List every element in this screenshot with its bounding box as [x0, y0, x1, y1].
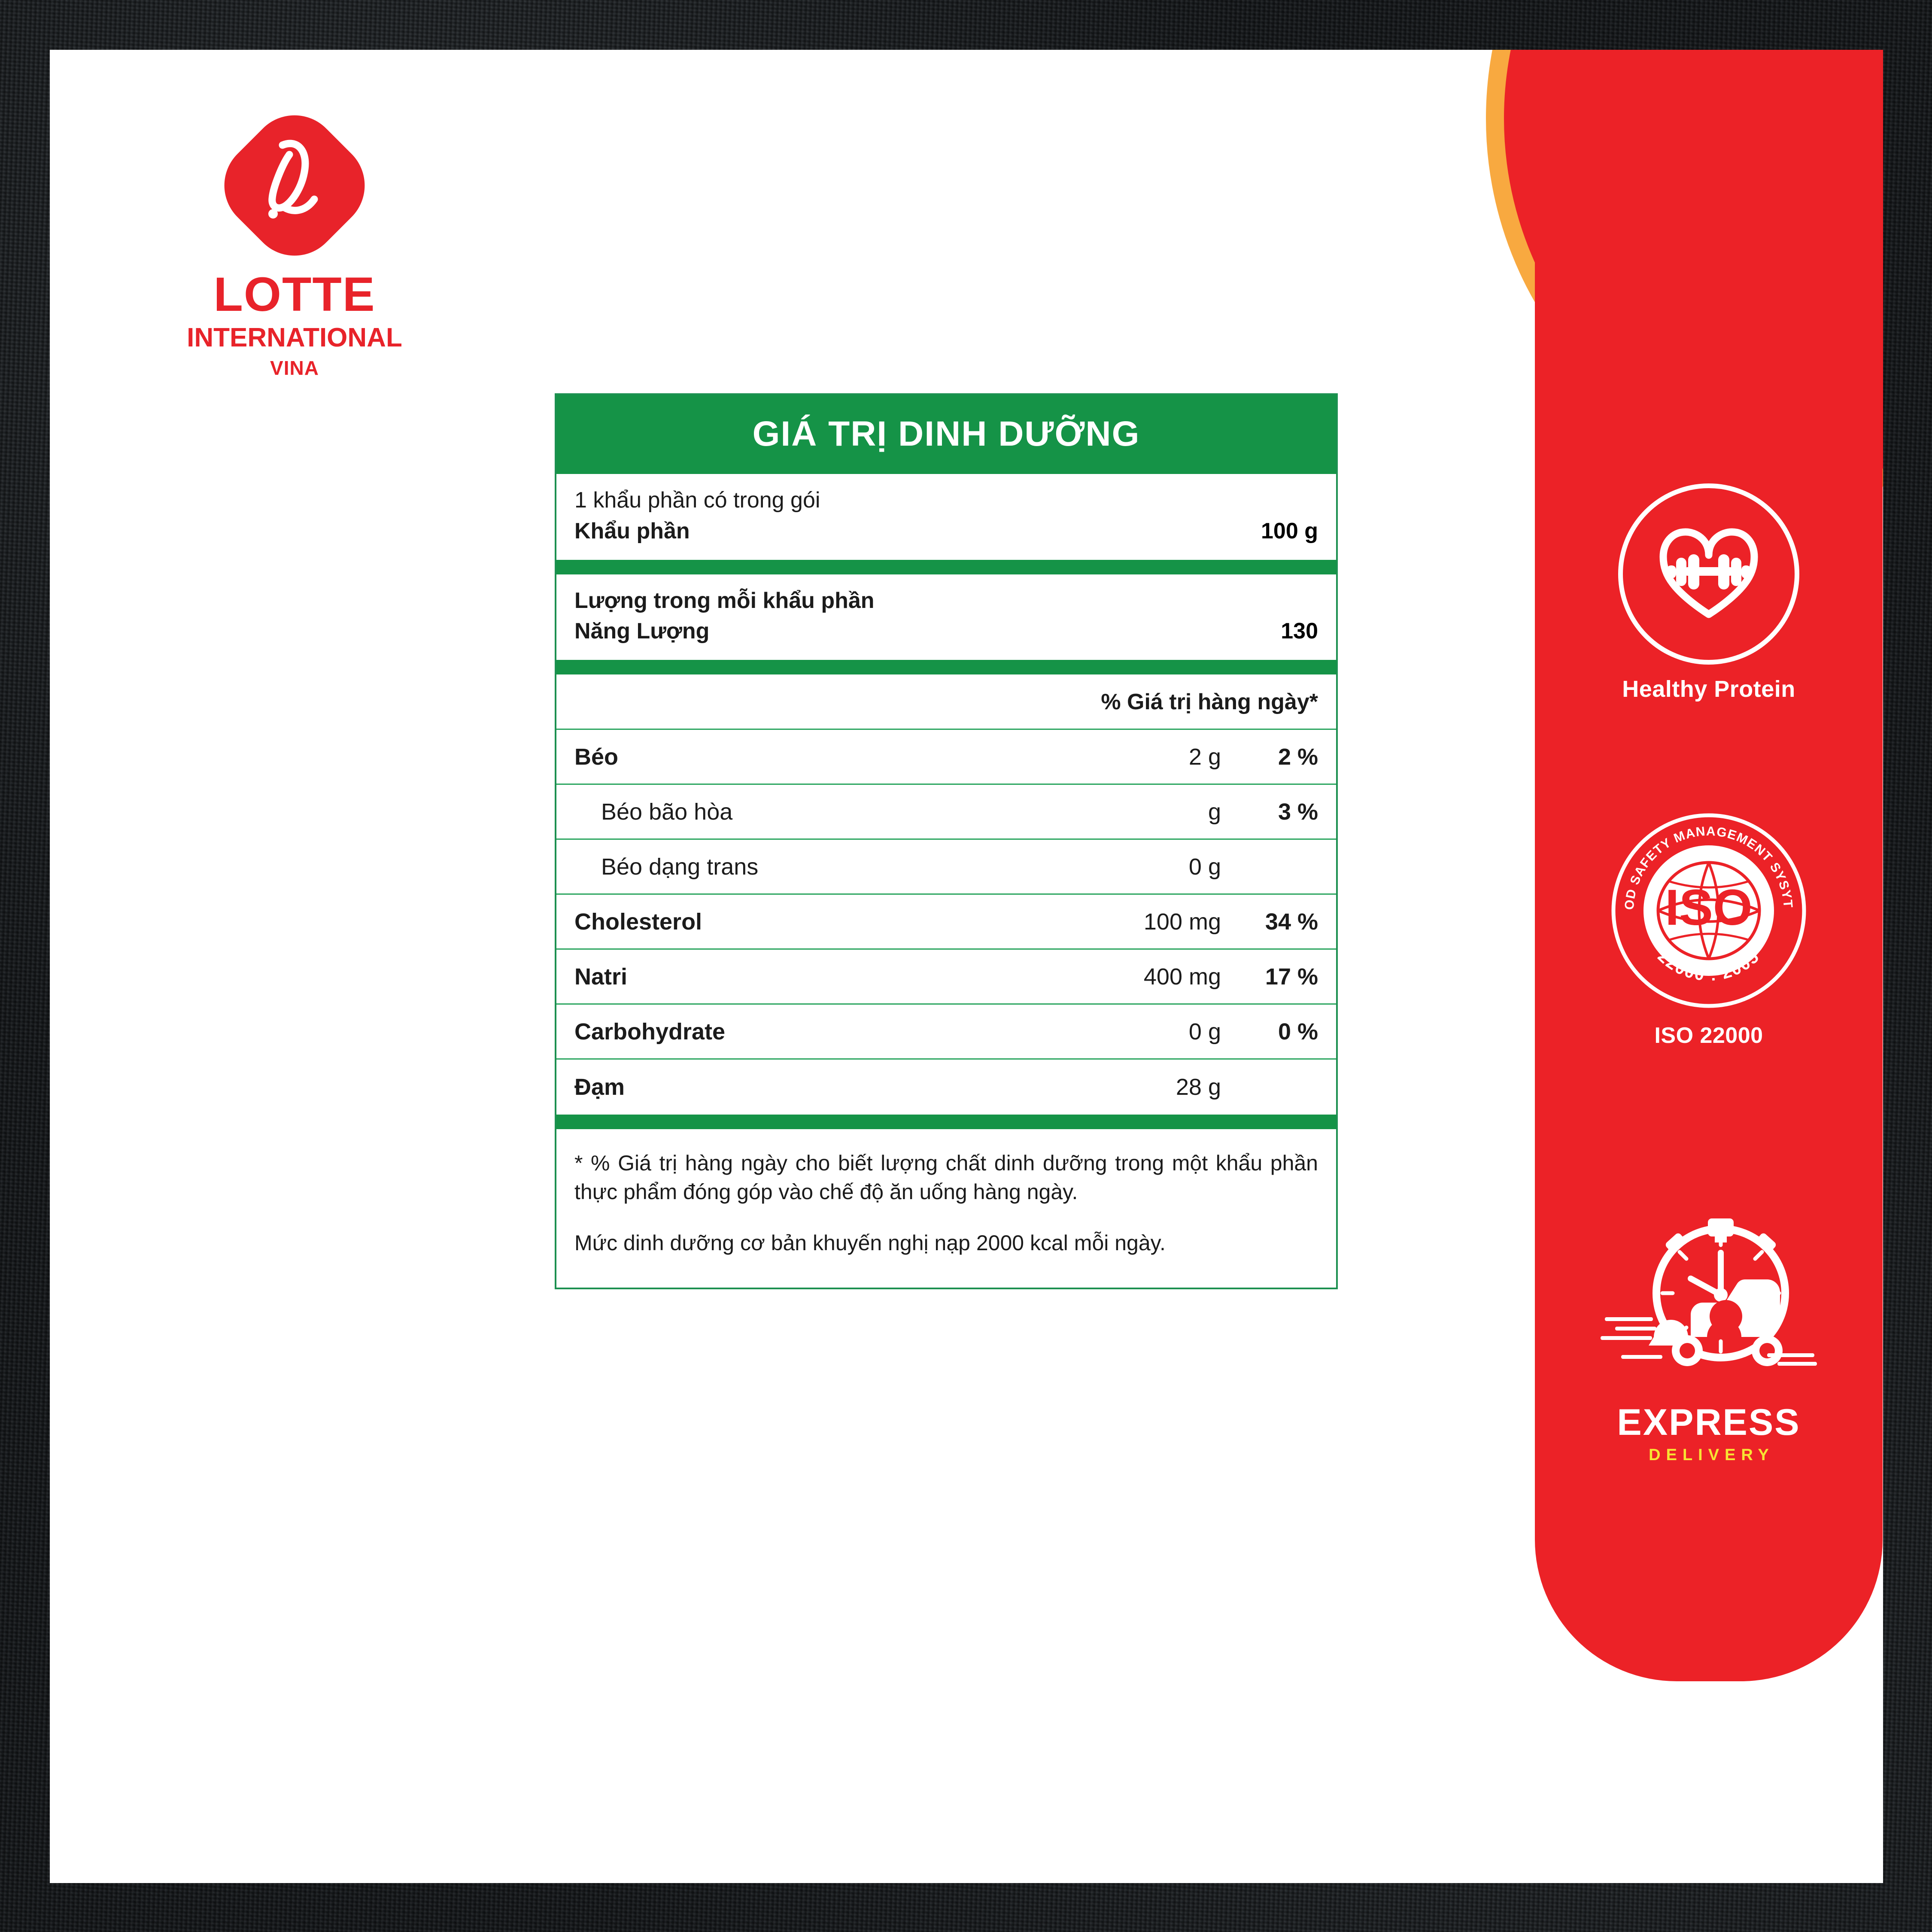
promo-banner: Healthy Protein — [1535, 50, 1883, 1681]
badge-iso: ISO FOOD SAFETY MANAGEMENT SYSYTEM 22000… — [1535, 810, 1883, 1048]
footnote-calorie-basis: Mức dinh dưỡng cơ bản khuyến nghị nạp 20… — [574, 1229, 1318, 1258]
badge-label-iso: ISO 22000 — [1535, 1023, 1883, 1048]
divider-band-1 — [556, 560, 1336, 574]
nutrient-name: Béo bão hòa — [574, 799, 1041, 825]
nutrient-amount: 0 g — [1041, 1018, 1232, 1045]
iso-globe-seal-icon: ISO FOOD SAFETY MANAGEMENT SYSYTEM 22000… — [1608, 810, 1810, 1012]
brand-logo: LOTTE INTERNATIONAL VINA — [131, 123, 458, 378]
nutrient-amount: 28 g — [1041, 1074, 1232, 1100]
nutrient-amount: g — [1041, 799, 1232, 825]
brand-name: LOTTE — [131, 270, 458, 319]
white-card: Healthy Protein — [50, 50, 1883, 1883]
daily-value-header: % Giá trị hàng ngày* — [556, 674, 1336, 730]
nutrient-amount: 100 mg — [1041, 908, 1232, 935]
express-title: EXPRESS — [1535, 1404, 1883, 1441]
table-row: Cholesterol 100 mg 34 % — [556, 895, 1336, 950]
iso-center-text: ISO — [1665, 879, 1752, 936]
divider-band-2 — [556, 660, 1336, 674]
nutrient-percent: 2 % — [1232, 744, 1318, 770]
nutrient-name: Đạm — [574, 1074, 1041, 1100]
nutrient-amount: 0 g — [1041, 854, 1232, 880]
serving-size-label: Khẩu phần — [574, 516, 690, 547]
table-row: Carbohydrate 0 g 0 % — [556, 1005, 1336, 1060]
nutrient-rows: Béo 2 g 2 % Béo bão hòa g 3 % Béo dạng t… — [556, 730, 1336, 1115]
nutrient-name: Natri — [574, 963, 1041, 990]
servings-per-container: 1 khẩu phần có trong gói — [574, 485, 1318, 516]
nutrient-percent: 17 % — [1232, 963, 1318, 990]
nutrition-title: GIÁ TRỊ DINH DƯỠNG — [556, 395, 1336, 474]
nutrient-name: Carbohydrate — [574, 1018, 1041, 1045]
lotte-diamond-l-logo — [206, 97, 383, 274]
table-row: Béo dạng trans 0 g — [556, 840, 1336, 895]
energy-label: Năng Lượng — [574, 616, 709, 647]
amount-per-serving-label: Lượng trong mỗi khẩu phần — [574, 586, 1318, 617]
nutrient-percent: 34 % — [1232, 908, 1318, 935]
badge-healthy-protein: Healthy Protein — [1535, 483, 1883, 702]
footnotes: * % Giá trị hàng ngày cho biết lượng chấ… — [556, 1129, 1336, 1288]
serving-block: 1 khẩu phần có trong gói Khẩu phần 100 g — [556, 474, 1336, 560]
express-subtitle: DELIVERY — [1535, 1446, 1883, 1464]
serving-size-value: 100 g — [1261, 518, 1318, 544]
brand-region: VINA — [131, 358, 458, 378]
energy-block: Lượng trong mỗi khẩu phần Năng Lượng 130 — [556, 574, 1336, 660]
badge-express-delivery: EXPRESS DELIVERY — [1535, 1209, 1883, 1464]
table-row: Đạm 28 g — [556, 1060, 1336, 1115]
footnote-daily-value: * % Giá trị hàng ngày cho biết lượng chấ… — [574, 1149, 1318, 1206]
nutrient-name: Béo — [574, 744, 1041, 770]
nutrient-amount: 400 mg — [1041, 963, 1232, 990]
nutrient-name: Béo dạng trans — [574, 854, 1041, 880]
heart-dumbbell-icon — [1618, 483, 1799, 665]
nutrient-percent: 3 % — [1232, 799, 1318, 825]
nutrition-facts-panel: GIÁ TRỊ DINH DƯỠNG 1 khẩu phần có trong … — [555, 393, 1338, 1289]
brand-subtitle: INTERNATIONAL — [131, 324, 458, 352]
nutrient-name: Cholesterol — [574, 908, 1041, 935]
badge-label-protein: Healthy Protein — [1535, 676, 1883, 702]
table-row: Béo 2 g 2 % — [556, 730, 1336, 785]
table-row: Natri 400 mg 17 % — [556, 950, 1336, 1005]
divider-band-3 — [556, 1115, 1336, 1129]
nutrient-percent: 0 % — [1232, 1018, 1318, 1045]
energy-value: 130 — [1281, 618, 1318, 644]
table-row: Béo bão hòa g 3 % — [556, 785, 1336, 840]
stopwatch-scooter-icon — [1597, 1209, 1820, 1406]
nutrient-amount: 2 g — [1041, 744, 1232, 770]
